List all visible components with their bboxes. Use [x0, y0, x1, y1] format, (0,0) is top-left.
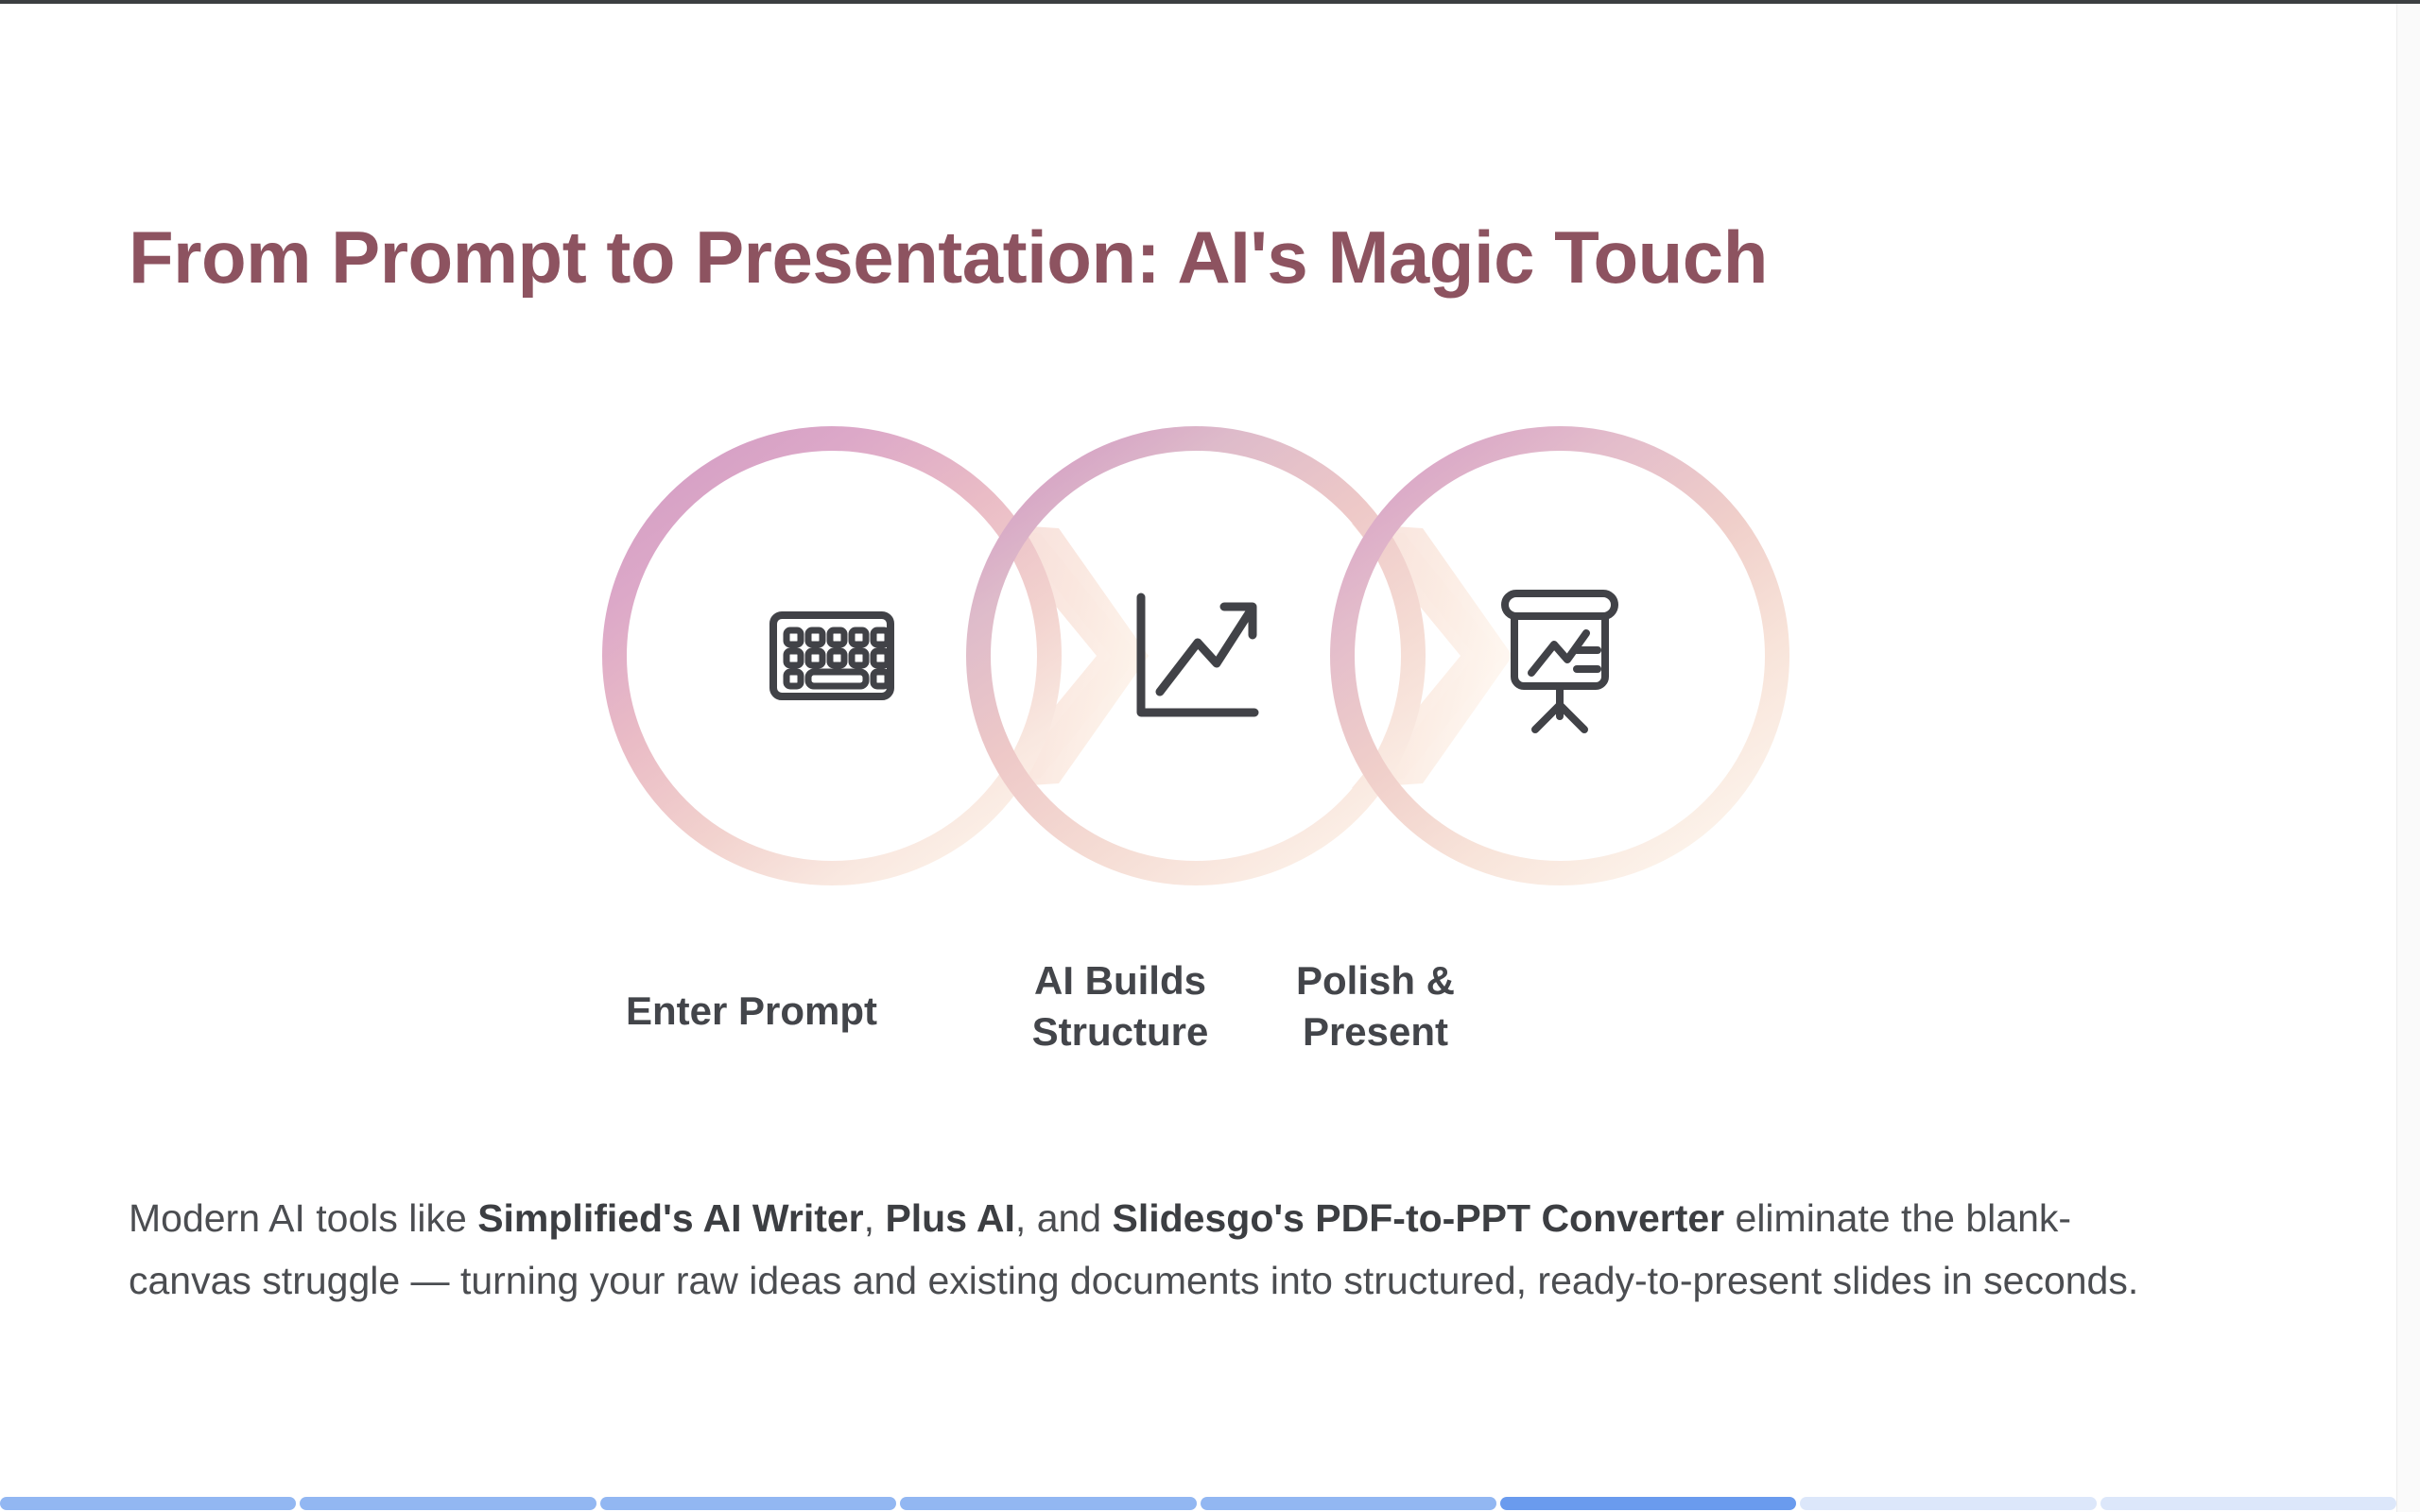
line-chart-growth-icon	[1141, 597, 1254, 713]
page-title: From Prompt to Presentation: AI's Magic …	[129, 216, 2303, 299]
presentation-board-icon	[1505, 593, 1615, 730]
step-label-line: Polish &	[1153, 955, 1598, 1006]
step-labels-group: Enter Prompt AI Builds Structure Polish …	[529, 944, 1872, 1086]
process-flow-diagram	[567, 410, 1891, 902]
slide-progress-bar[interactable]	[0, 1497, 2396, 1512]
progress-segment-4[interactable]	[900, 1497, 1196, 1510]
progress-segment-6[interactable]	[1500, 1497, 1796, 1510]
progress-segment-7[interactable]	[1800, 1497, 2096, 1510]
body-text: ,	[864, 1196, 886, 1240]
body-emphasis: Simplified's AI Writer	[477, 1196, 863, 1240]
progress-segment-8[interactable]	[2100, 1497, 2396, 1510]
progress-segment-5[interactable]	[1201, 1497, 1496, 1510]
body-text: Modern AI tools like	[129, 1196, 477, 1240]
progress-segment-1[interactable]	[0, 1497, 296, 1510]
progress-segment-3[interactable]	[600, 1497, 896, 1510]
step-label-line: Present	[1153, 1006, 1598, 1057]
body-emphasis: Slidesgo's PDF-to-PPT Converter	[1113, 1196, 1725, 1240]
right-scroll-gutter[interactable]	[2396, 4, 2420, 1512]
slide-canvas: From Prompt to Presentation: AI's Magic …	[0, 4, 2396, 1512]
body-emphasis: Plus AI	[885, 1196, 1014, 1240]
step-label-polish-present: Polish & Present	[1153, 955, 1598, 1057]
body-text: , and	[1015, 1196, 1113, 1240]
progress-segment-2[interactable]	[300, 1497, 596, 1510]
body-paragraph: Modern AI tools like Simplified's AI Wri…	[129, 1187, 2189, 1313]
